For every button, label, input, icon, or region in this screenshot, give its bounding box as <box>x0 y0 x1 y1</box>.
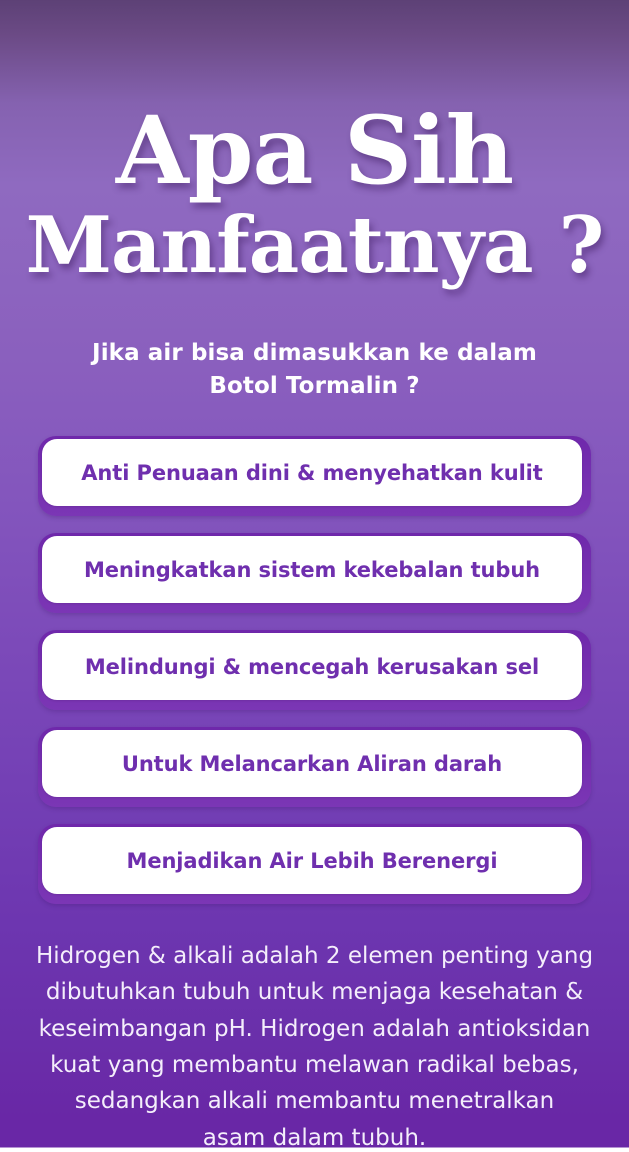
poster-subtitle: Jika air bisa dimasukkan ke dalam Botol … <box>0 337 629 402</box>
subtitle-line-2: Botol Tormalin ? <box>0 370 629 403</box>
benefit-card-label: Meningkatkan sistem kekebalan tubuh <box>74 558 550 582</box>
page-title-line-1: Apa Sih <box>0 104 629 198</box>
footer-line-2: dibutuhkan tubuh untuk menjaga kesehatan… <box>30 974 599 1010</box>
benefit-card-2[interactable]: Meningkatkan sistem kekebalan tubuh <box>38 533 591 613</box>
benefit-card-5[interactable]: Menjadikan Air Lebih Berenergi <box>38 824 591 904</box>
benefit-card-surface: Untuk Melancarkan Aliran darah <box>42 730 582 797</box>
benefit-card-4[interactable]: Untuk Melancarkan Aliran darah <box>38 727 591 807</box>
footer-line-5: sedangkan alkali membantu menetralkan <box>30 1083 599 1119</box>
footer-line-4: kuat yang membantu melawan radikal bebas… <box>30 1047 599 1083</box>
footer-line-6: asam dalam tubuh. <box>30 1120 599 1152</box>
benefit-card-surface: Meningkatkan sistem kekebalan tubuh <box>42 536 582 603</box>
benefit-list: Anti Penuaan dini & menyehatkan kulit Me… <box>38 436 591 904</box>
benefit-card-label: Melindungi & mencegah kerusakan sel <box>75 655 549 679</box>
footer-line-1: Hidrogen & alkali adalah 2 elemen pentin… <box>30 938 599 974</box>
subtitle-line-1: Jika air bisa dimasukkan ke dalam <box>0 337 629 370</box>
benefit-card-surface: Menjadikan Air Lebih Berenergi <box>42 827 582 894</box>
poster-heading: Apa Sih Manfaatnya ? <box>0 104 629 288</box>
footer-description: Hidrogen & alkali adalah 2 elemen pentin… <box>30 938 599 1152</box>
benefit-card-label: Menjadikan Air Lebih Berenergi <box>117 849 508 873</box>
promo-poster: Apa Sih Manfaatnya ? Jika air bisa dimas… <box>0 0 629 1152</box>
benefit-card-label: Anti Penuaan dini & menyehatkan kulit <box>71 461 552 485</box>
benefit-card-label: Untuk Melancarkan Aliran darah <box>112 752 512 776</box>
benefit-card-surface: Melindungi & mencegah kerusakan sel <box>42 633 582 700</box>
footer-line-3: keseimbangan pH. Hidrogen adalah antioks… <box>30 1011 599 1047</box>
benefit-card-3[interactable]: Melindungi & mencegah kerusakan sel <box>38 630 591 710</box>
page-title-line-2: Manfaatnya ? <box>0 204 629 288</box>
benefit-card-surface: Anti Penuaan dini & menyehatkan kulit <box>42 439 582 506</box>
benefit-card-1[interactable]: Anti Penuaan dini & menyehatkan kulit <box>38 436 591 516</box>
